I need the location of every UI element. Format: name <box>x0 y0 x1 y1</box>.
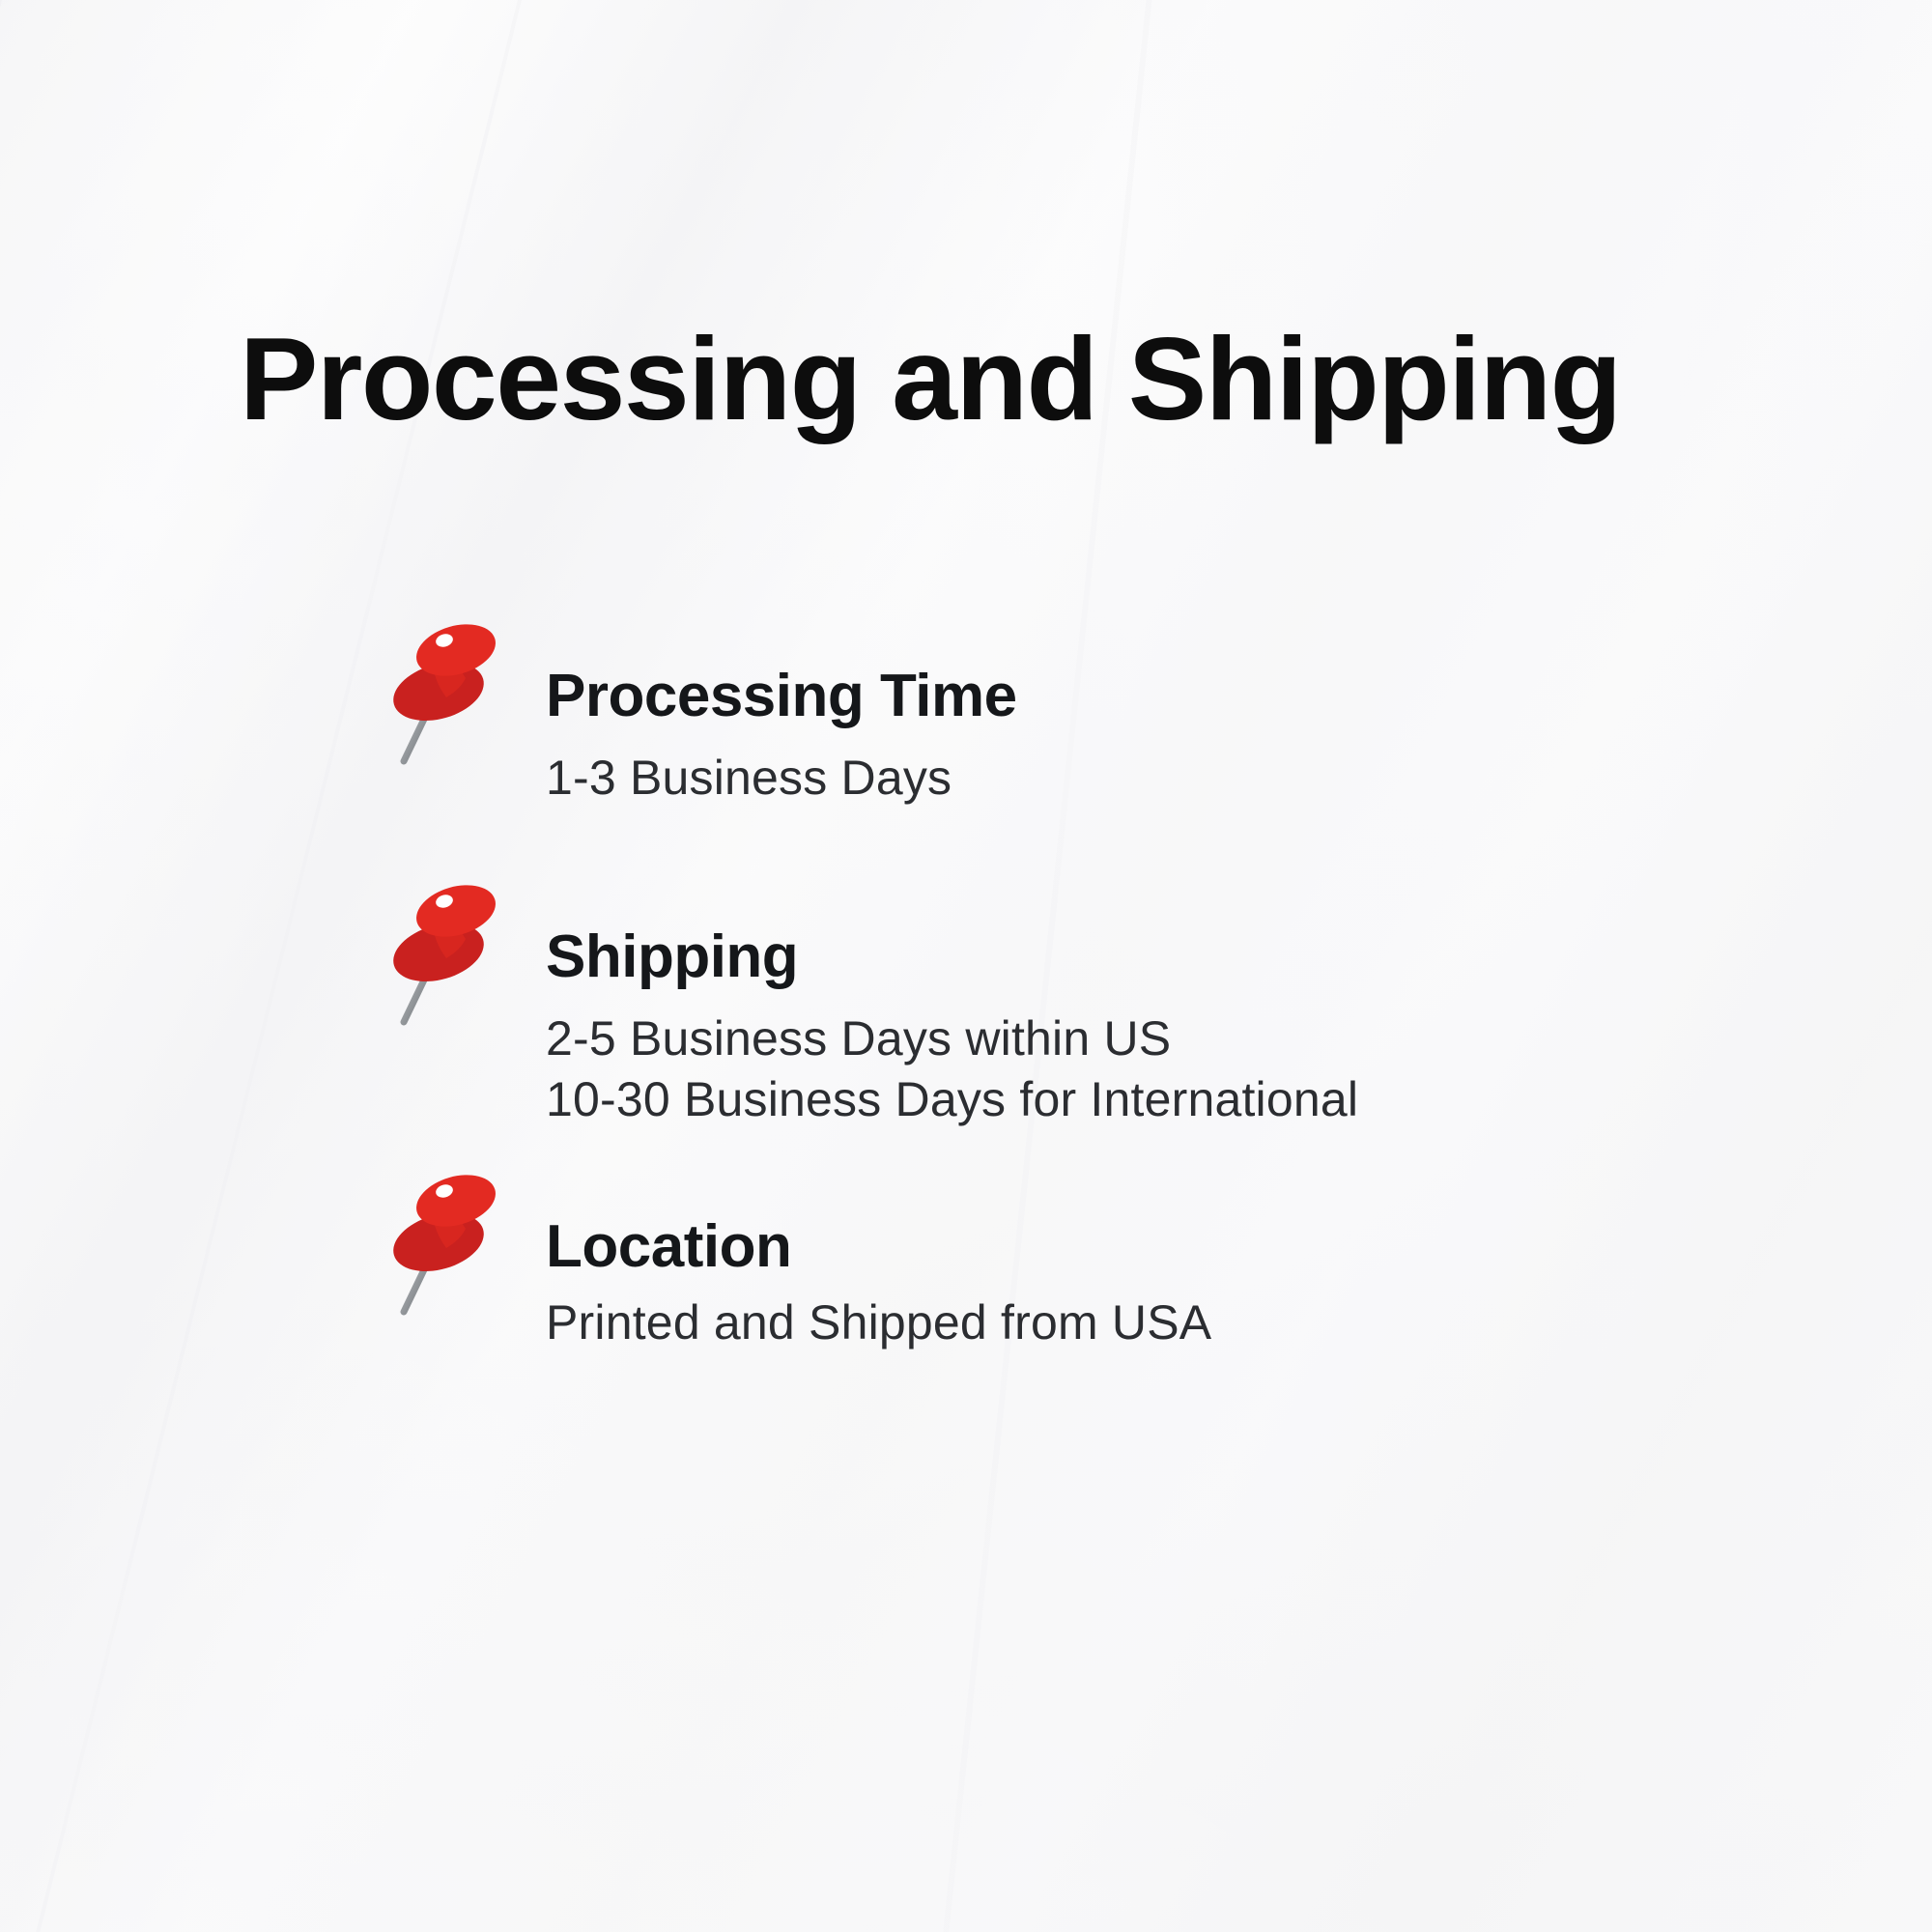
section-processing-time: Processing Time 1-3 Business Days <box>386 620 1017 809</box>
section-body: Shipping 2-5 Business Days within US 10-… <box>546 881 1358 1130</box>
section-detail-line: Printed and Shipped from USA <box>546 1293 1211 1353</box>
section-detail-lines: 1-3 Business Days <box>546 748 1017 809</box>
section-detail-lines: Printed and Shipped from USA <box>546 1293 1211 1353</box>
pushpin-icon <box>386 881 502 1026</box>
section-heading: Processing Time <box>546 620 1017 726</box>
section-detail-line: 1-3 Business Days <box>546 748 1017 809</box>
section-row: Processing Time 1-3 Business Days <box>386 620 1017 809</box>
section-detail-lines: 2-5 Business Days within US 10-30 Busine… <box>546 1009 1358 1130</box>
section-location: Location Printed and Shipped from USA <box>386 1171 1211 1353</box>
section-row: Shipping 2-5 Business Days within US 10-… <box>386 881 1358 1130</box>
section-detail-line: 2-5 Business Days within US <box>546 1009 1358 1069</box>
section-row: Location Printed and Shipped from USA <box>386 1171 1211 1353</box>
section-body: Processing Time 1-3 Business Days <box>546 620 1017 809</box>
section-heading: Location <box>546 1171 1211 1277</box>
section-shipping: Shipping 2-5 Business Days within US 10-… <box>386 881 1358 1130</box>
shipping-info-list: Processing Time 1-3 Business Days <box>0 0 1932 1932</box>
pushpin-icon <box>386 1171 502 1316</box>
section-body: Location Printed and Shipped from USA <box>546 1171 1211 1353</box>
section-heading: Shipping <box>546 881 1358 987</box>
section-detail-line: 10-30 Business Days for International <box>546 1069 1358 1130</box>
pushpin-icon <box>386 620 502 765</box>
info-graphic-canvas: Processing and Shipping <box>0 0 1932 1932</box>
